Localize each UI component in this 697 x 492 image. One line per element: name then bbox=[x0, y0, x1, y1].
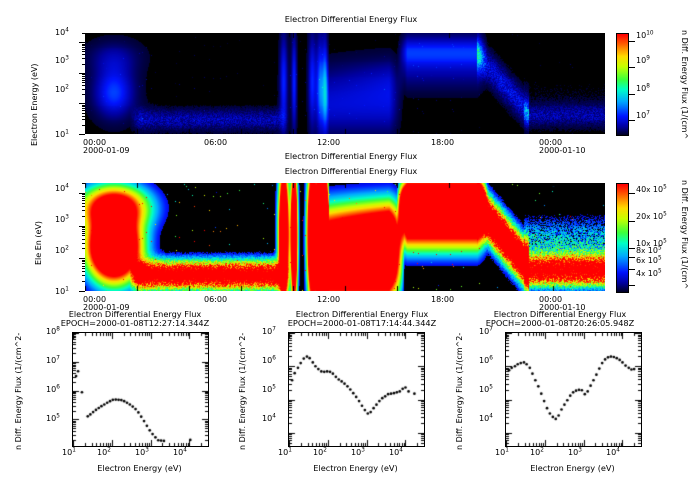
colorbar-tick bbox=[629, 94, 635, 95]
cbtick-top-10e8: 108 bbox=[636, 85, 650, 93]
cbtick-mid-4: 4x 105 bbox=[636, 270, 662, 278]
axis-tick bbox=[82, 266, 85, 267]
axis-label-ele-en-middle: Ele En (eV) bbox=[34, 221, 43, 265]
axis-tick bbox=[82, 260, 85, 261]
axis-tick bbox=[82, 210, 85, 211]
axis-tick bbox=[82, 231, 85, 232]
axis-tick bbox=[79, 291, 85, 292]
colorbar-tick bbox=[629, 67, 635, 68]
ytick-mid-10e3: 103 bbox=[55, 216, 69, 224]
cbtick-mid-8: 8x 105 bbox=[636, 247, 662, 255]
spectrum-3-ytick-10e7: 107 bbox=[479, 328, 493, 336]
spectrum-2-plot-area bbox=[288, 332, 425, 447]
axis-label-electron-energy-top: Electron Energy (eV) bbox=[30, 63, 39, 146]
cbtick-mid-20: 20x 105 bbox=[636, 213, 667, 221]
axis-tick bbox=[82, 200, 85, 201]
axis-tick bbox=[82, 113, 85, 114]
axis-tick bbox=[82, 76, 85, 77]
axis-tick bbox=[82, 198, 85, 199]
ytick-top-10e4: 104 bbox=[55, 29, 69, 37]
axis-tick bbox=[82, 239, 85, 240]
axis-tick bbox=[82, 105, 85, 106]
colorbar-tick bbox=[629, 221, 635, 222]
spectrum-1-ytick-10e5: 105 bbox=[46, 415, 60, 423]
axis-tick bbox=[82, 45, 85, 46]
axis-tick bbox=[82, 271, 85, 272]
axis-tick bbox=[82, 233, 85, 234]
axis-tick bbox=[82, 268, 85, 269]
ytick-mid-10e2: 102 bbox=[55, 247, 69, 255]
axis-label-x-top: Electron Differential Energy Flux bbox=[221, 151, 481, 161]
colorbar-tick bbox=[629, 248, 635, 249]
spectrum-1-ytick-10e6: 106 bbox=[46, 386, 60, 394]
spectrum-2-ytick-10e4: 104 bbox=[262, 415, 276, 423]
axis-tick bbox=[82, 196, 85, 197]
spectrum-3-ytick-10e6: 106 bbox=[479, 357, 493, 365]
axis-tick bbox=[82, 194, 85, 195]
spectrum-1-subtitle: EPOCH=2000-01-08T12:27:14.344Z bbox=[30, 318, 240, 328]
axis-tick bbox=[79, 226, 85, 227]
axis-tick bbox=[82, 125, 85, 126]
xtick-top-0000-a: 00:00 2000-01-09 bbox=[83, 139, 130, 156]
axis-tick bbox=[82, 229, 85, 230]
spectrum-1-xtick-10e2: 102 bbox=[97, 449, 111, 457]
axis-tick bbox=[82, 44, 85, 45]
spectrum-2-subtitle: EPOCH=2000-01-08T17:14:44.344Z bbox=[258, 318, 466, 328]
spectrogram-top bbox=[85, 33, 605, 134]
ytick-top-10e1: 101 bbox=[55, 131, 69, 139]
xtick-mid-1800: 18:00 bbox=[431, 296, 454, 304]
axis-tick bbox=[82, 49, 85, 50]
ytick-mid-10e1: 101 bbox=[55, 288, 69, 296]
axis-tick bbox=[82, 248, 85, 249]
colorbar-label-top: n Diff. Energy Flux (1/(cm^ bbox=[680, 30, 689, 139]
axis-tick bbox=[79, 103, 85, 104]
spectrum-2-xtick-10e2: 102 bbox=[313, 449, 327, 457]
axis-tick bbox=[82, 51, 85, 52]
colorbar-tick bbox=[629, 269, 635, 270]
spectrum-3-ytick-10e5: 105 bbox=[479, 386, 493, 394]
xtick-mid-1200: 12:00 bbox=[317, 296, 340, 304]
spectrum-2-xtick-10e3: 103 bbox=[351, 449, 365, 457]
axis-tick bbox=[82, 275, 85, 276]
colorbar-tick bbox=[629, 41, 635, 42]
spectrum-3-xtick-10e3: 103 bbox=[568, 449, 582, 457]
spectrum-1-plot-area bbox=[72, 332, 209, 447]
axis-tick bbox=[82, 206, 85, 207]
axis-tick bbox=[82, 108, 85, 109]
spectrogram-middle bbox=[85, 183, 605, 291]
spectrum-3-xtick-10e2: 102 bbox=[530, 449, 544, 457]
axis-tick bbox=[82, 54, 85, 55]
spectrum-2-ytick-10e5: 105 bbox=[262, 386, 276, 394]
spectrum-3-ylabel: n Diff. Energy Flux (1/(cm^2- bbox=[455, 333, 464, 450]
axis-tick bbox=[82, 80, 85, 81]
axis-tick bbox=[82, 82, 85, 83]
spectrum-2-ytick-10e6: 106 bbox=[262, 357, 276, 365]
axis-tick bbox=[82, 106, 85, 107]
xtick-top-0600: 06:00 bbox=[204, 139, 227, 147]
axis-tick bbox=[82, 203, 85, 204]
axis-tick bbox=[82, 281, 85, 282]
axis-tick bbox=[82, 78, 85, 79]
axis-tick bbox=[82, 85, 85, 86]
colorbar-tick bbox=[629, 120, 635, 121]
ytick-top-10e2: 102 bbox=[55, 86, 69, 94]
spectrum-1-ytick-10e7: 107 bbox=[46, 357, 60, 365]
axis-tick bbox=[82, 216, 85, 217]
axis-tick bbox=[82, 33, 85, 34]
cbtick-top-10e7: 107 bbox=[636, 112, 650, 120]
cbtick-top-10e10: 1010 bbox=[636, 32, 654, 40]
spectrum-3-xlabel: Electron Energy (eV) bbox=[505, 463, 640, 473]
axis-tick bbox=[82, 227, 85, 228]
spectrum-2-ytick-10e7: 107 bbox=[262, 328, 276, 336]
axis-tick bbox=[82, 94, 85, 95]
axis-tick bbox=[82, 74, 85, 75]
axis-tick bbox=[82, 89, 85, 90]
axis-tick bbox=[82, 64, 85, 65]
axis-tick bbox=[82, 243, 85, 244]
colorbar-tick bbox=[629, 193, 635, 194]
axis-tick bbox=[82, 235, 85, 236]
panel-title-top: Electron Differential Energy Flux bbox=[221, 14, 481, 24]
spectrum-1-xlabel: Electron Energy (eV) bbox=[72, 463, 207, 473]
ytick-mid-10e4: 104 bbox=[55, 185, 69, 193]
xtick-mid-0600: 06:00 bbox=[204, 296, 227, 304]
spectrum-2-ylabel: n Diff. Energy Flux (1/(cm^2- bbox=[238, 333, 247, 450]
axis-tick bbox=[79, 258, 85, 259]
axis-tick bbox=[82, 58, 85, 59]
spectrum-3-ytick-10e4: 104 bbox=[479, 415, 493, 423]
xtick-top-1800: 18:00 bbox=[431, 139, 454, 147]
axis-tick bbox=[79, 42, 85, 43]
axis-tick bbox=[82, 110, 85, 111]
spectrum-3-plot-area bbox=[505, 332, 642, 447]
colorbar-tick bbox=[629, 257, 635, 258]
axis-tick bbox=[82, 261, 85, 262]
spectrum-1-xtick-10e3: 103 bbox=[135, 449, 149, 457]
spectrum-2-xtick-10e1: 101 bbox=[278, 449, 292, 457]
spectrum-2-xtick-10e4: 104 bbox=[389, 449, 403, 457]
cbtick-mid-6: 6x 105 bbox=[636, 257, 662, 265]
spectrum-3-xtick-10e1: 101 bbox=[495, 449, 509, 457]
axis-tick bbox=[82, 47, 85, 48]
axis-tick bbox=[82, 119, 85, 120]
colorbar-middle bbox=[616, 183, 629, 293]
colorbar-top bbox=[616, 33, 629, 136]
axis-tick bbox=[79, 134, 85, 135]
colorbar-tick bbox=[629, 285, 635, 286]
axis-tick bbox=[82, 183, 85, 184]
panel-title-middle: Electron Differential Energy Flux bbox=[221, 166, 481, 176]
spectrum-3-xtick-10e4: 104 bbox=[606, 449, 620, 457]
cbtick-top-10e9: 109 bbox=[636, 57, 650, 65]
axis-tick bbox=[79, 73, 85, 74]
spectrum-2-xlabel: Electron Energy (eV) bbox=[288, 463, 423, 473]
axis-tick bbox=[82, 116, 85, 117]
axis-tick bbox=[79, 193, 85, 194]
cbtick-mid-40: 40x 105 bbox=[636, 186, 667, 194]
spectrum-1-xtick-10e4: 104 bbox=[173, 449, 187, 457]
xtick-top-1200: 12:00 bbox=[317, 139, 340, 147]
colorbar-label-middle: n Diff. Energy Flux (1/(cm^ bbox=[680, 180, 689, 289]
xtick-top-0000-b: 00:00 2000-01-10 bbox=[539, 139, 586, 156]
spectrum-1-ytick-10e8: 108 bbox=[46, 328, 60, 336]
spectrum-1-ylabel: n Diff. Energy Flux (1/(cm^2- bbox=[14, 333, 23, 450]
axis-tick bbox=[82, 263, 85, 264]
spectrum-1-xtick-10e1: 101 bbox=[62, 449, 76, 457]
ytick-top-10e3: 103 bbox=[55, 57, 69, 65]
